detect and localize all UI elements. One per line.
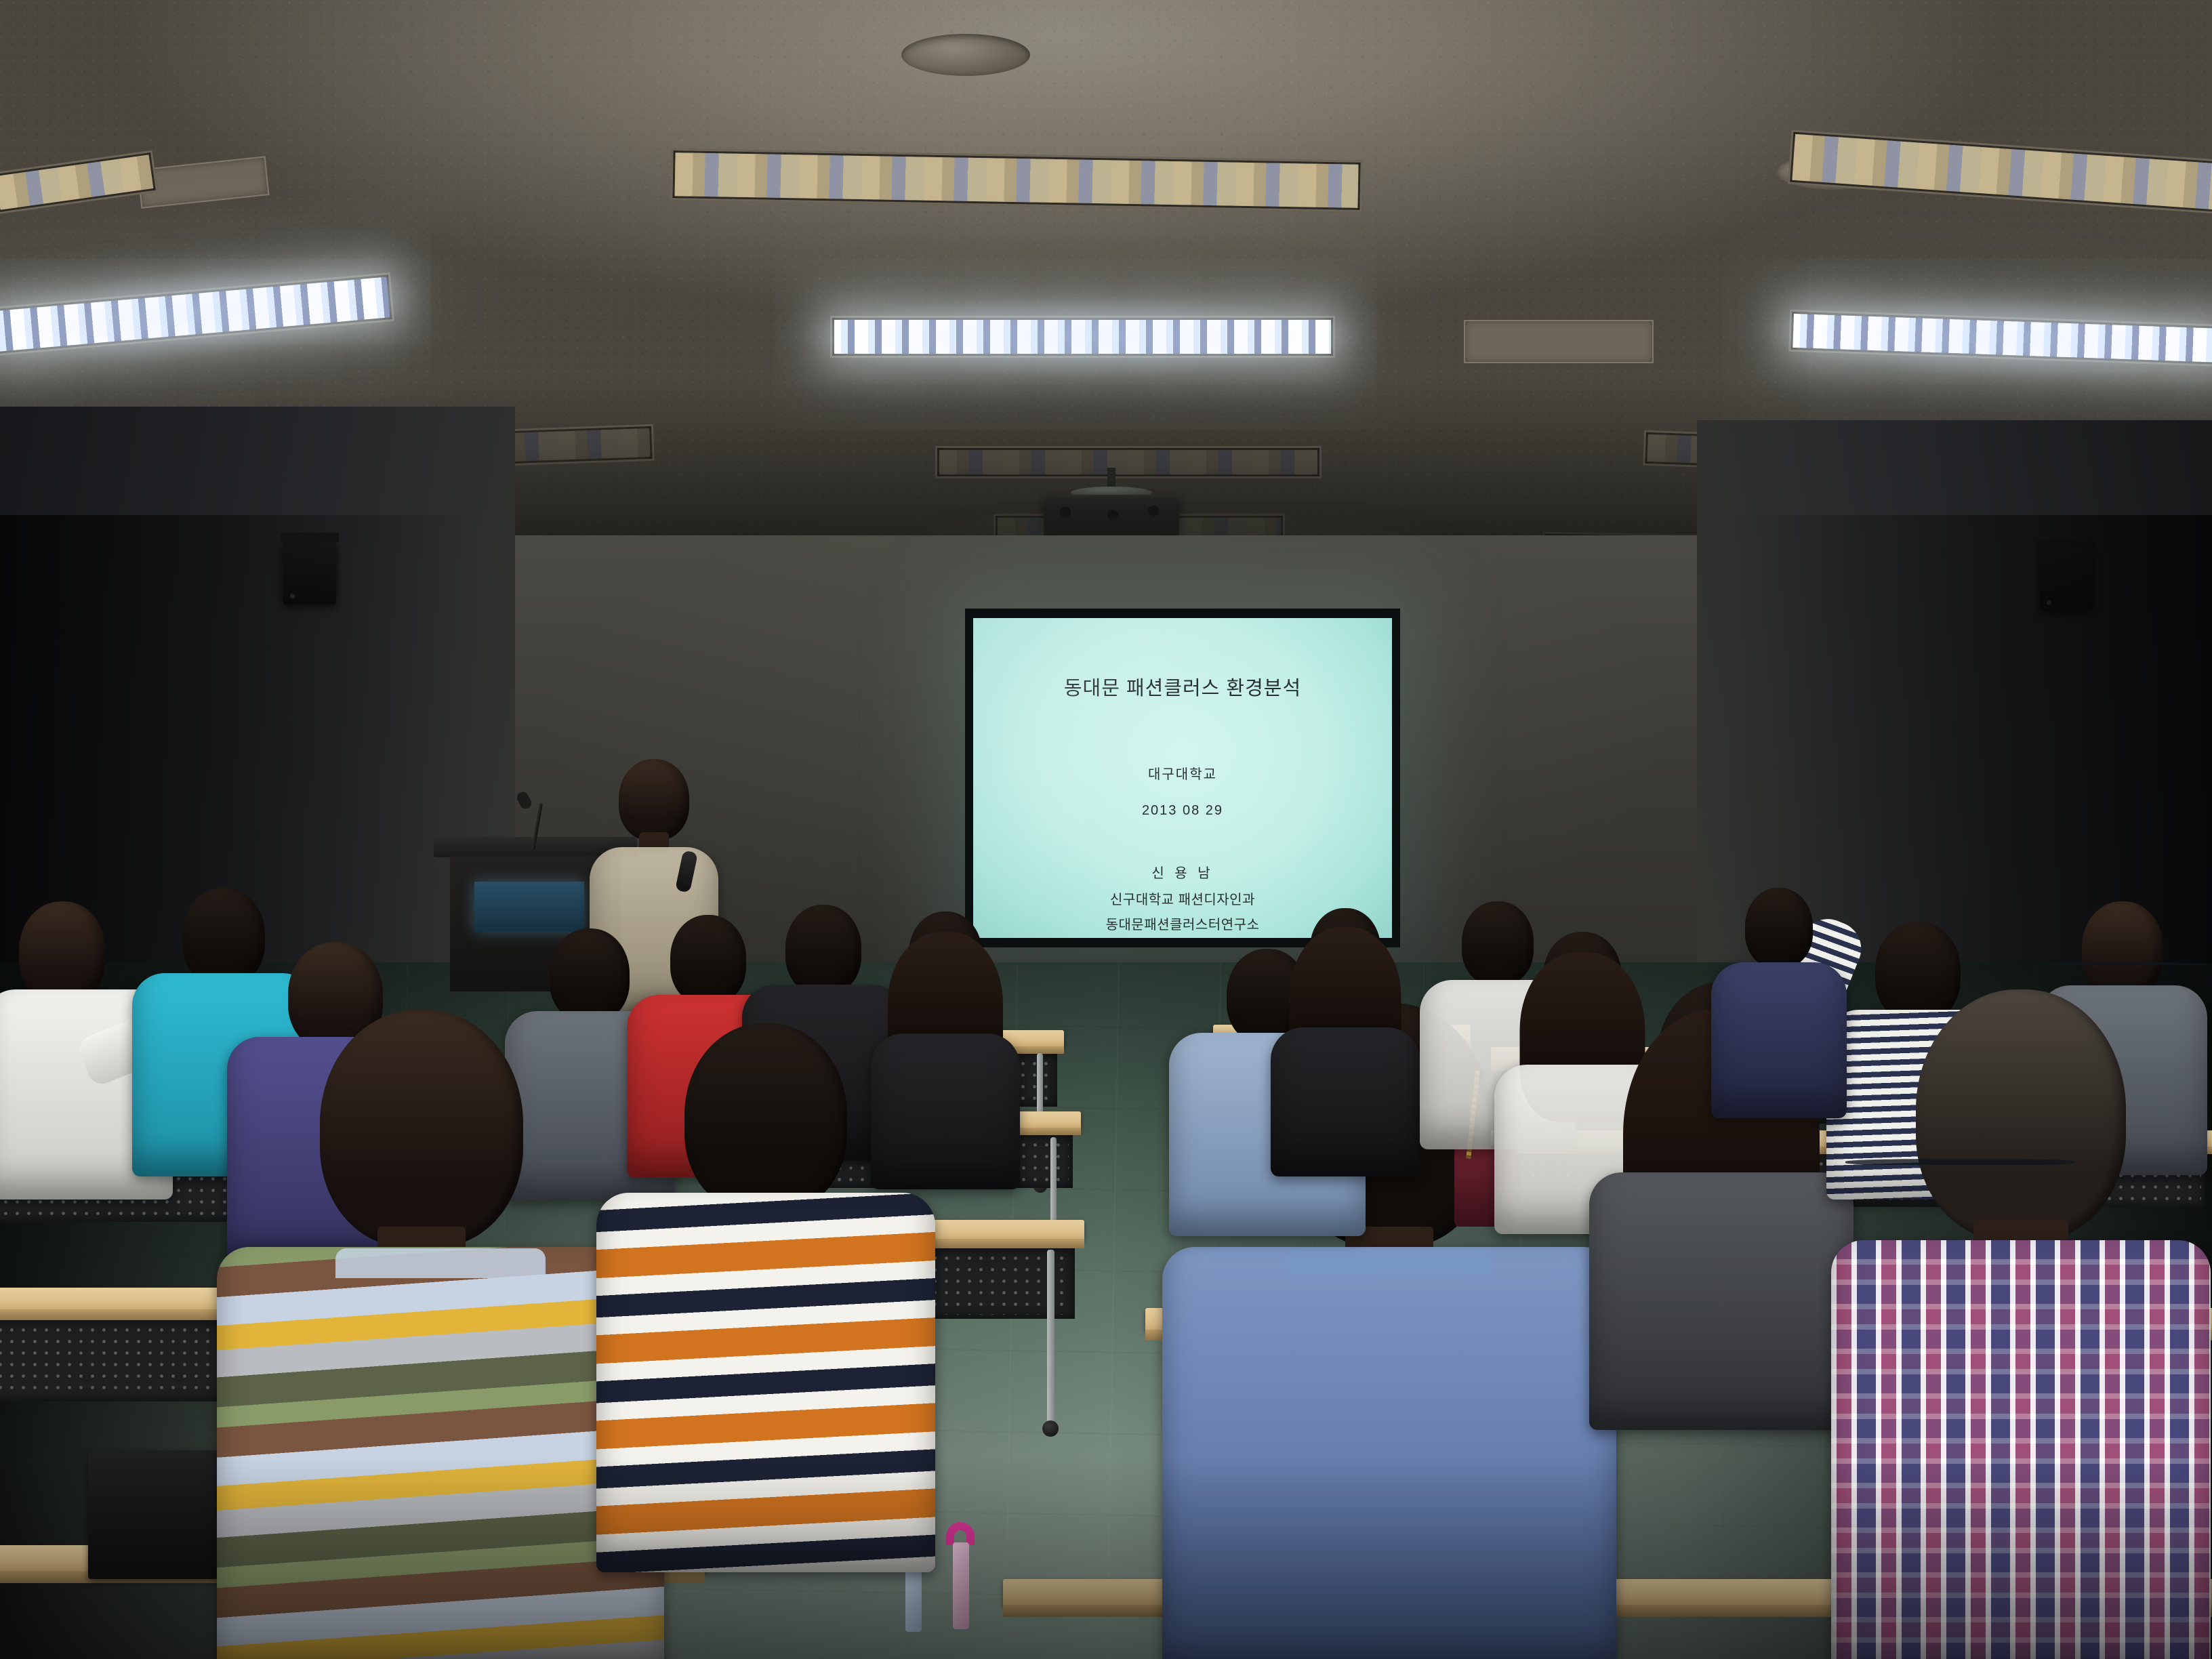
head [2082, 901, 2163, 996]
head [320, 1010, 523, 1247]
glasses [2033, 962, 2212, 969]
slide-affiliation-2: 동대문패션클러스터연구소 [1106, 914, 1260, 933]
audience-back-left [1708, 888, 1850, 1111]
head [785, 905, 861, 994]
umbrella-canopy-pink [953, 1542, 969, 1629]
head [1916, 989, 2126, 1240]
polo-collar [1288, 1248, 1491, 1275]
slide-affiliation-1: 신구대학교 패션디자인과 [1110, 888, 1255, 908]
head [1745, 888, 1813, 968]
confidence-monitor [474, 882, 584, 932]
glasses [1845, 1159, 2074, 1166]
slide-title: 동대문 패션클러스 환경분석 [1064, 672, 1301, 701]
projection-screen: 동대문 패션클러스 환경분석 대구대학교 2013 08 29 신 용 남 신구… [973, 618, 1392, 938]
lecture-hall-photo: 동대문 패션클러스 환경분석 대구대학교 2013 08 29 신 용 남 신구… [0, 0, 2212, 1659]
torso [1831, 1240, 2211, 1659]
torso [1589, 1172, 1853, 1430]
head [684, 1023, 847, 1213]
ceiling-air-diffuser [901, 34, 1030, 76]
ceiling-access-panel-2 [1464, 320, 1654, 363]
audience-plaid-shirt [1830, 989, 2212, 1659]
audience-longhair-2 [1267, 908, 1423, 1166]
torso [1271, 1027, 1420, 1176]
pink-childrens-umbrella[interactable] [942, 1522, 996, 1637]
torso [596, 1193, 935, 1572]
polo-collar [335, 1248, 546, 1278]
audience-rugby-stripe [590, 1023, 942, 1565]
slide-presenter: 신 용 남 [1151, 862, 1213, 882]
desk-leg [1047, 1250, 1054, 1426]
ceiling-light-4 [830, 316, 1335, 358]
head [670, 915, 746, 1004]
torso [1711, 962, 1847, 1118]
slide-organization: 대구대학교 [1148, 763, 1217, 783]
torso [1162, 1247, 1616, 1659]
head [550, 928, 630, 1022]
umbrella-handle-pink [946, 1522, 975, 1545]
slide-date: 2013 08 29 [1142, 803, 1223, 819]
head [19, 901, 106, 1003]
projection-screen-frame: 동대문 패션클러스 환경분석 대구대학교 2013 08 29 신 용 남 신구… [965, 609, 1400, 947]
presenter-head [619, 759, 689, 840]
desk-caster [1042, 1420, 1059, 1437]
